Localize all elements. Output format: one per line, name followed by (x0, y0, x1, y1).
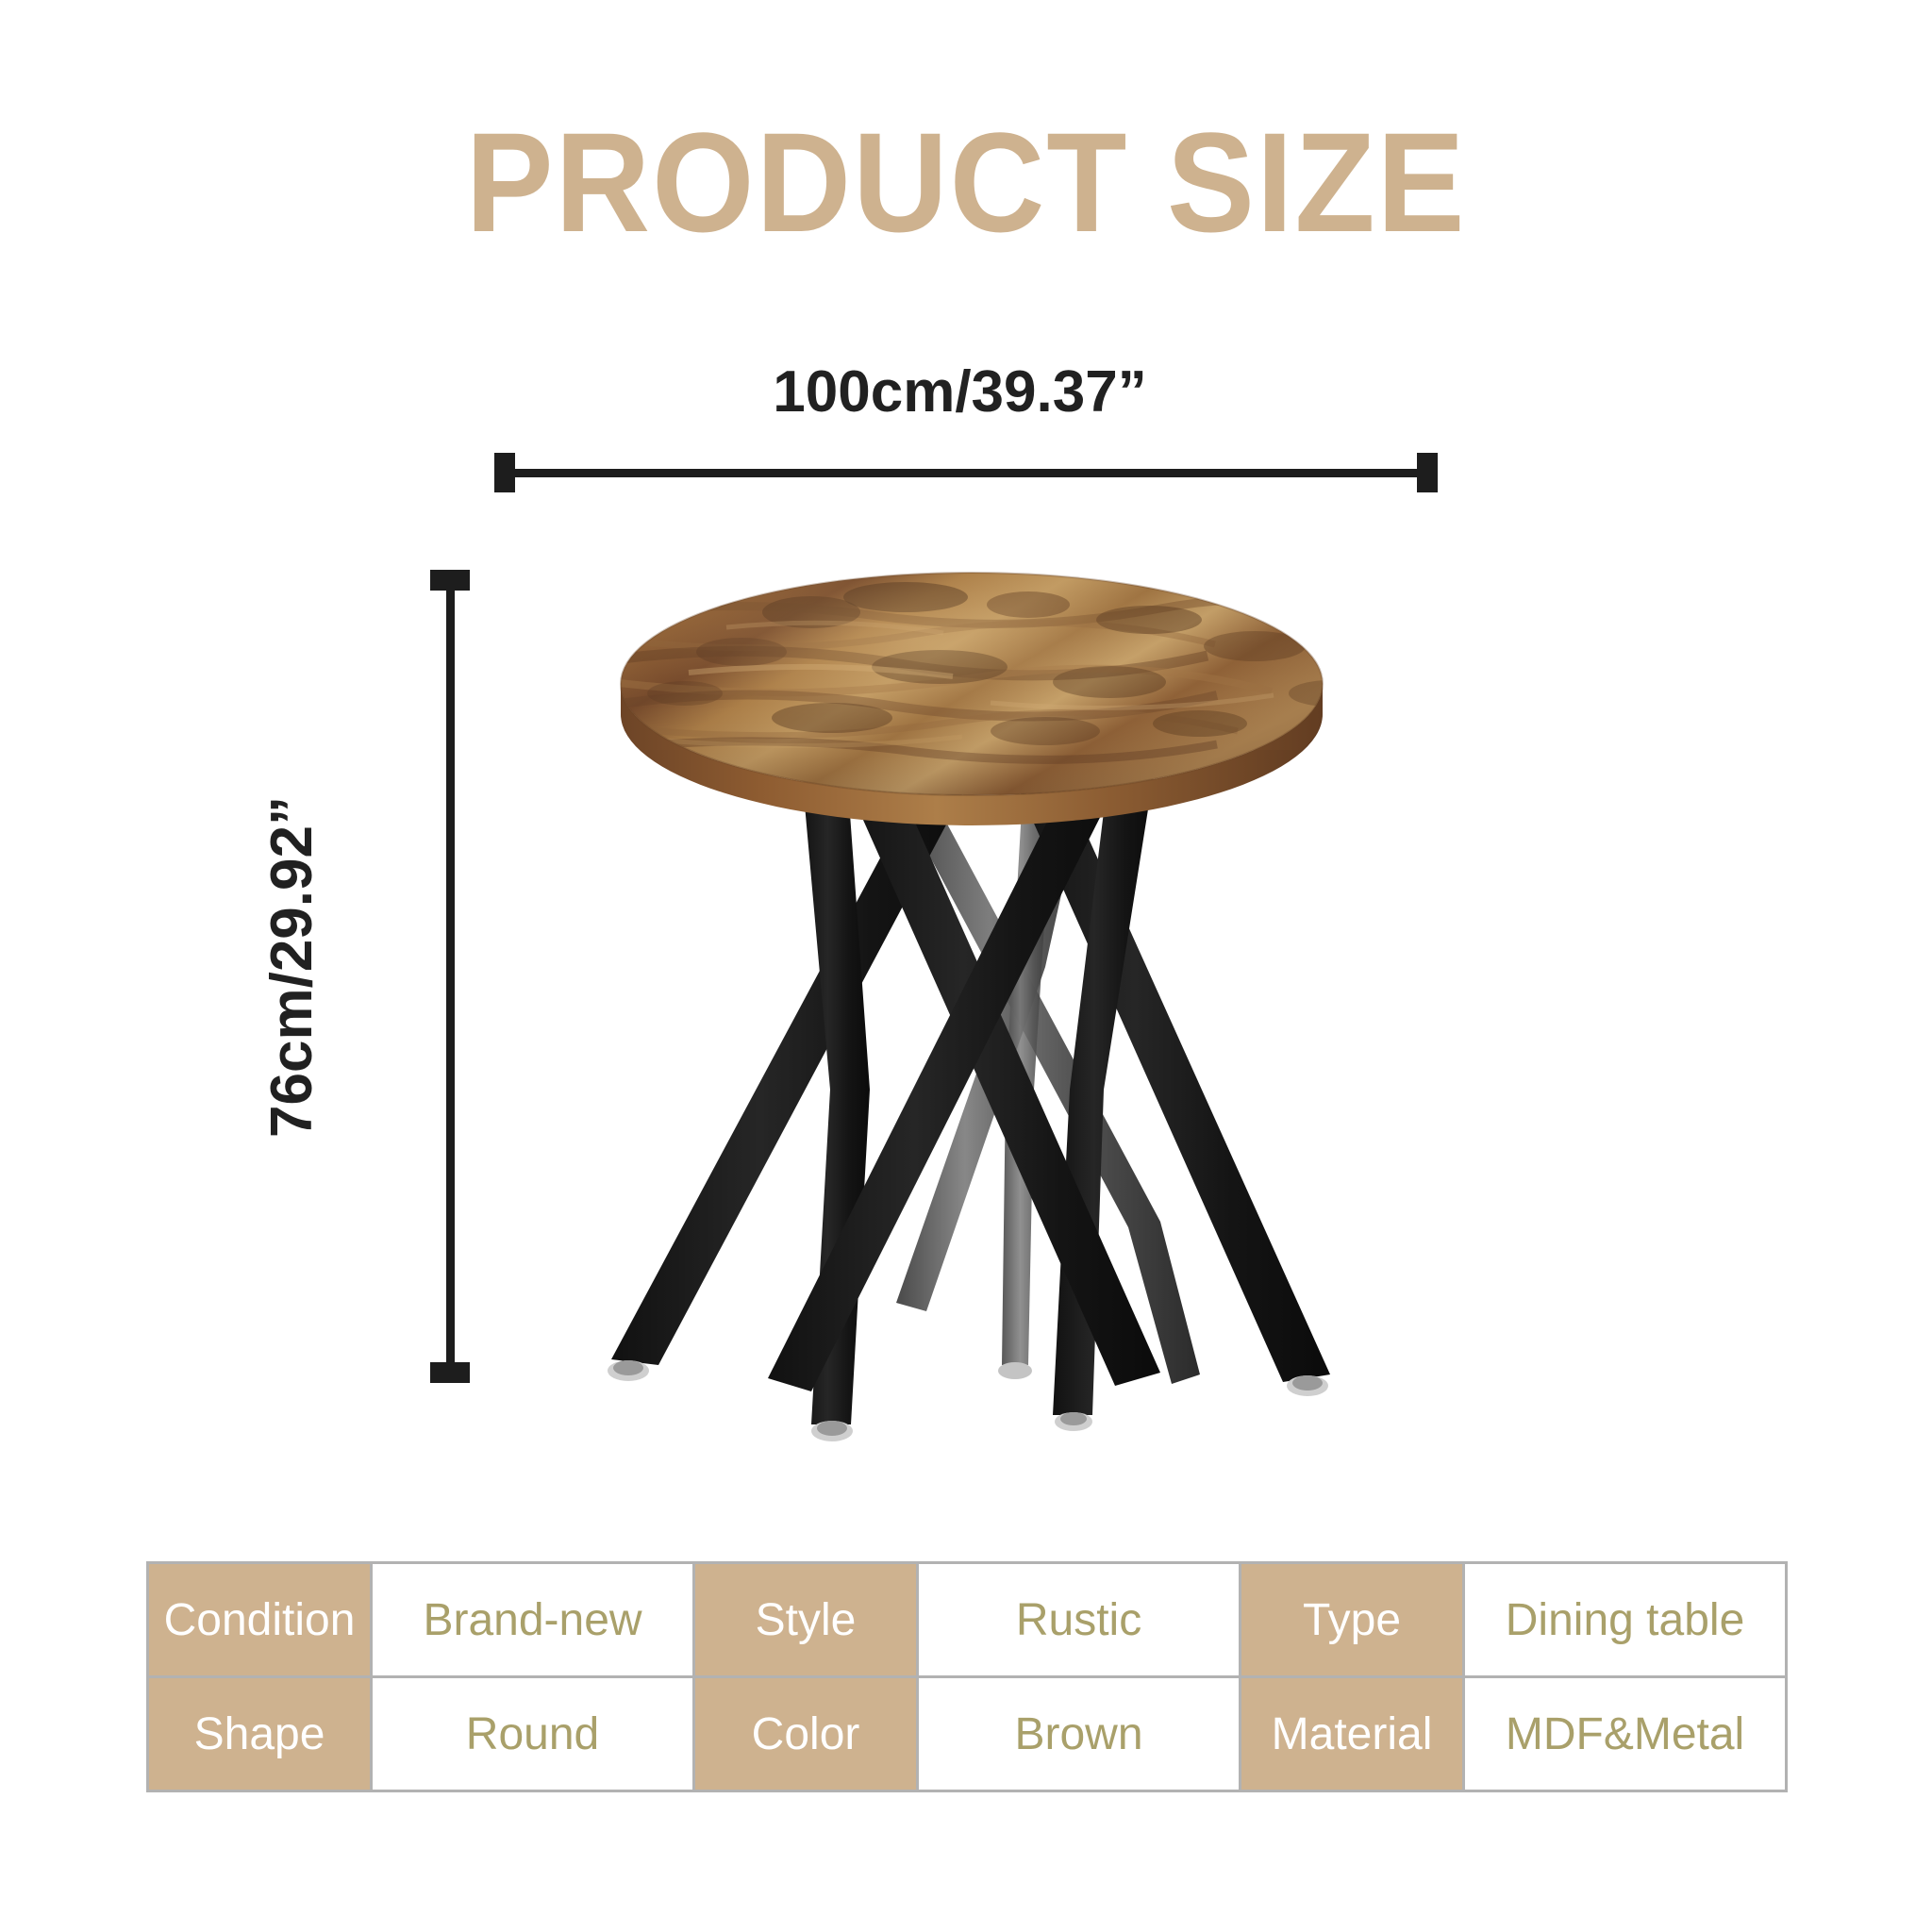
product-size-infographic: PRODUCT SIZE 100cm/39.37” 76cm/29.92” (0, 0, 1932, 1932)
spec-label-color: Color (693, 1677, 917, 1791)
table-legs (608, 746, 1330, 1441)
table-row: Shape Round Color Brown Material MDF&Met… (148, 1677, 1787, 1791)
specification-table-body: Condition Brand-new Style Rustic Type Di… (148, 1563, 1787, 1791)
specification-table: Condition Brand-new Style Rustic Type Di… (146, 1561, 1788, 1792)
height-dimension-endcap-bottom (430, 1362, 470, 1383)
table-row: Condition Brand-new Style Rustic Type Di… (148, 1563, 1787, 1677)
spec-value-condition: Brand-new (372, 1563, 694, 1677)
height-dimension-endcap-top (430, 570, 470, 591)
width-dimension-label: 100cm/39.37” (495, 363, 1424, 422)
width-dimension-endcap-right (1417, 453, 1438, 492)
spec-label-type: Type (1240, 1563, 1463, 1677)
spec-value-style: Rustic (918, 1563, 1241, 1677)
spec-value-type: Dining table (1464, 1563, 1787, 1677)
spec-value-material: MDF&Metal (1464, 1677, 1787, 1791)
product-illustration (500, 561, 1443, 1495)
spec-label-condition: Condition (148, 1563, 372, 1677)
width-dimension-endcap-left (494, 453, 515, 492)
table-top (611, 573, 1372, 825)
height-dimension-label: 76cm/29.92” (263, 796, 322, 1138)
spec-value-color: Brown (918, 1677, 1241, 1791)
height-dimension-line (446, 577, 455, 1370)
width-dimension-line (502, 469, 1419, 477)
spec-value-shape: Round (372, 1677, 694, 1791)
spec-label-material: Material (1240, 1677, 1463, 1791)
page-title: PRODUCT SIZE (68, 111, 1865, 253)
spec-label-shape: Shape (148, 1677, 372, 1791)
spec-label-style: Style (693, 1563, 917, 1677)
